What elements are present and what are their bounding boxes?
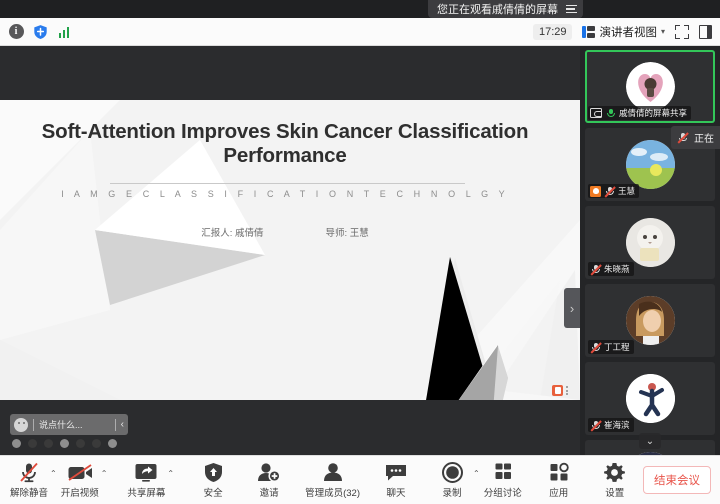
fullscreen-icon[interactable]: [675, 25, 689, 39]
participant-tile[interactable]: 丁工程: [585, 284, 715, 357]
apps-icon: [548, 462, 570, 483]
toolbar-item-chat[interactable]: 聊天: [376, 458, 416, 502]
participant-name: 戚倩倩的屏幕共享: [619, 107, 687, 119]
chevron-down-icon: ▾: [661, 27, 665, 36]
invite-icon: [257, 462, 281, 483]
share-screen-icon: [134, 462, 158, 483]
mic-muted-icon: [677, 132, 688, 143]
avatar-image: [626, 218, 675, 267]
toolbar-label: 应用: [549, 485, 568, 499]
meeting-toolbar: 解除静音 ⌃ 开启视频 ⌃ 共享屏幕: [0, 455, 720, 504]
camera-icon[interactable]: [76, 439, 85, 448]
screen-share-icon: [590, 108, 602, 118]
mic-options-chevron-icon[interactable]: ⌃: [49, 469, 60, 492]
gift-icon[interactable]: [12, 439, 21, 448]
toolbar-item-share-screen[interactable]: 共享屏幕: [126, 458, 166, 502]
video-off-icon: [67, 462, 93, 483]
viewing-screen-tooltip: 您正在观看戚倩倩的屏幕: [428, 0, 583, 18]
mic-on-icon: [605, 108, 616, 119]
toolbar-label: 邀请: [260, 485, 279, 499]
toolbar-item-start-video[interactable]: 开启视频: [60, 458, 100, 502]
toolbar-item-apps[interactable]: 应用: [539, 458, 579, 502]
top-bar-left-group: i: [0, 24, 72, 40]
powerpoint-icon: [552, 385, 563, 396]
pen-icon[interactable]: [44, 439, 53, 448]
view-mode-selector[interactable]: 演讲者视图 ▾: [582, 24, 665, 40]
toolbar-item-invite[interactable]: 邀请: [249, 458, 289, 502]
toolbar-item-record[interactable]: 录制: [432, 458, 472, 502]
shield-icon[interactable]: [32, 24, 48, 40]
slide-subtitle: I A M G E C L A S S I F I C A T I O N T …: [30, 189, 540, 199]
participants-icon: [322, 462, 344, 483]
toolbar-item-participants[interactable]: 管理成员(32): [305, 458, 360, 502]
stage-chat-tools: [10, 439, 128, 448]
record-icon: [442, 462, 463, 483]
shield-icon: [204, 462, 223, 483]
toolbar-label: 管理成员(32): [305, 485, 360, 499]
toolbar-label: 设置: [605, 485, 624, 499]
avatar-image: [626, 62, 675, 111]
toolbar-item-unmute[interactable]: 解除静音: [9, 458, 49, 502]
avatar: [626, 374, 675, 423]
avatar-image: [626, 374, 675, 423]
play-icon[interactable]: [28, 439, 37, 448]
toolbar-item-settings[interactable]: 设置: [595, 458, 635, 502]
avatar-image: [626, 140, 675, 189]
avatar: [626, 296, 675, 345]
powerpoint-badge: [552, 385, 568, 396]
toolbar-item-security[interactable]: 安全: [193, 458, 233, 502]
signal-bars-glyph: [59, 26, 70, 38]
avatar: [626, 62, 675, 111]
slide-divider: [110, 183, 465, 184]
breakout-icon: [492, 462, 514, 483]
toolbar-label: 录制: [443, 485, 462, 499]
participant-tile[interactable]: 戚倩倩的屏幕共享: [585, 50, 715, 123]
avatar: [626, 140, 675, 189]
zoom-meeting-window: 您正在观看戚倩倩的屏幕 i 17:29 演: [0, 0, 720, 504]
avatar-image: [626, 296, 675, 345]
video-options-chevron-icon[interactable]: ⌃: [100, 469, 111, 492]
participant-sidebar[interactable]: 戚倩倩的屏幕共享 王慧: [580, 46, 720, 455]
share-options-chevron-icon[interactable]: ⌃: [166, 469, 177, 492]
presentation-slide: Soft-Attention Improves Skin Cancer Clas…: [0, 100, 580, 400]
participant-name: 王慧: [618, 185, 635, 197]
participant-name: 丁工程: [604, 341, 630, 353]
top-bar-right-group: 17:29 演讲者视图 ▾: [533, 24, 720, 40]
shared-screen-stage: Soft-Attention Improves Skin Cancer Clas…: [0, 46, 580, 455]
mic-muted-icon: [590, 264, 601, 275]
scroll-down-button[interactable]: ⌄: [639, 433, 661, 449]
viewing-screen-tooltip-text: 您正在观看戚倩倩的屏幕: [437, 1, 558, 17]
participant-name-chip: 戚倩倩的屏幕共享: [588, 106, 691, 120]
gear-icon: [604, 462, 625, 483]
toolbar-label: 分组讨论: [484, 485, 522, 499]
participant-status-tooltip: 正在: [671, 126, 720, 149]
participant-name: 朱晓燕: [604, 263, 630, 275]
divider: [115, 419, 116, 431]
participant-name-chip: 王慧: [588, 184, 639, 198]
participant-tile[interactable]: 朱晓燕: [585, 206, 715, 279]
more-icon[interactable]: [108, 439, 117, 448]
toolbar-item-breakout-rooms[interactable]: 分组讨论: [483, 458, 523, 502]
participant-name-chip: 朱晓燕: [588, 262, 634, 276]
avatar: [626, 218, 675, 267]
host-badge-icon: [590, 186, 601, 197]
mic-muted-icon: [590, 342, 601, 353]
participant-status-tooltip-text: 正在: [694, 130, 714, 145]
more-options-icon[interactable]: [566, 386, 568, 395]
stage-chat-placeholder[interactable]: 说点什么...: [39, 418, 110, 431]
mic-muted-icon: [604, 186, 615, 197]
participant-tile[interactable]: 崔海滨: [585, 362, 715, 435]
emoji-icon[interactable]: [14, 418, 28, 432]
mic-muted-icon: [590, 420, 601, 431]
info-icon[interactable]: i: [8, 24, 24, 40]
next-slide-button[interactable]: ›: [564, 288, 580, 328]
view-mode-label: 演讲者视图: [599, 24, 657, 40]
toolbar-label: 聊天: [387, 485, 406, 499]
shield-icon-svg: [33, 24, 48, 40]
speaker-view-icon: [582, 26, 595, 38]
screenshot-icon[interactable]: [60, 439, 69, 448]
toolbar-label: 开启视频: [61, 485, 99, 499]
record-options-chevron-icon[interactable]: ⌃: [472, 469, 483, 492]
participant-name-chip: 崔海滨: [588, 418, 634, 432]
slide-title: Soft-Attention Improves Skin Cancer Clas…: [30, 120, 540, 168]
divider: [33, 419, 34, 431]
side-panel-icon[interactable]: [699, 25, 712, 39]
hamburger-icon[interactable]: [566, 5, 577, 13]
info-icon-glyph: i: [9, 24, 24, 39]
slide-advisor: 导师: 王慧: [326, 225, 369, 239]
slide-presenter: 汇报人: 戚倩倩: [201, 225, 263, 239]
chat-icon: [384, 462, 408, 483]
participant-name-chip: 丁工程: [588, 340, 634, 354]
end-meeting-button[interactable]: 结束会议: [643, 466, 711, 494]
collapse-chat-icon[interactable]: ‹: [121, 419, 124, 430]
top-bar: i 17:29 演讲者视图 ▾: [0, 18, 720, 46]
clock: 17:29: [533, 24, 573, 40]
comment-icon[interactable]: [92, 439, 101, 448]
toolbar-label: 解除静音: [10, 485, 48, 499]
toolbar-label: 共享屏幕: [127, 485, 165, 499]
toolbar-label: 安全: [204, 485, 223, 499]
mic-off-icon: [19, 462, 39, 483]
participant-name: 崔海滨: [604, 419, 630, 431]
stage-chat-overlay: 说点什么... ‹: [10, 414, 128, 448]
stage-chat-input-bar[interactable]: 说点什么... ‹: [10, 414, 128, 435]
signal-bars-icon[interactable]: [56, 24, 72, 40]
slide-meta: 汇报人: 戚倩倩 导师: 王慧: [30, 225, 540, 239]
